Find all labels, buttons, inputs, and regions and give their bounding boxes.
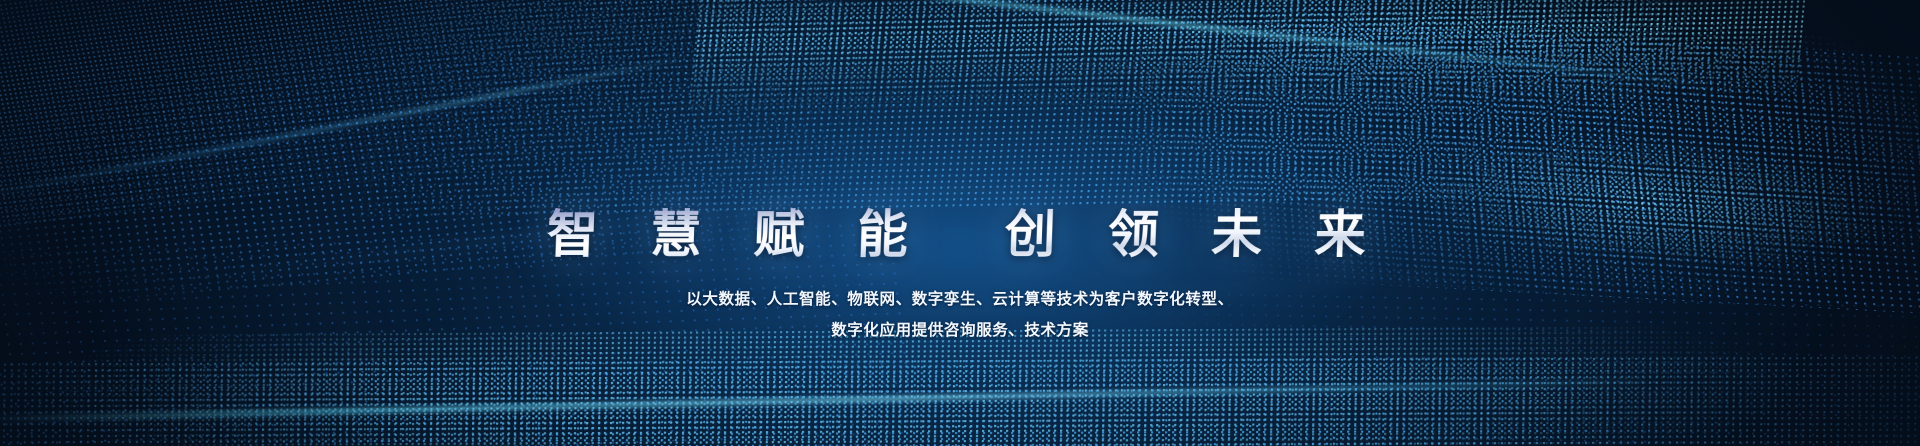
banner-subtitle: 以大数据、人工智能、物联网、数字孪生、云计算等技术为客户数字化转型、 数字化应用…	[686, 284, 1233, 346]
banner-subtitle-line-1: 以大数据、人工智能、物联网、数字孪生、云计算等技术为客户数字化转型、	[686, 284, 1233, 315]
hero-banner: 智 慧 赋 能 创 领 未 来 以大数据、人工智能、物联网、数字孪生、云计算等技…	[0, 0, 1920, 446]
banner-subtitle-line-2: 数字化应用提供咨询服务、技术方案	[686, 315, 1233, 346]
banner-title: 智 慧 赋 能 创 领 未 来	[546, 208, 1375, 262]
banner-content: 智 慧 赋 能 创 领 未 来 以大数据、人工智能、物联网、数字孪生、云计算等技…	[0, 0, 1920, 446]
